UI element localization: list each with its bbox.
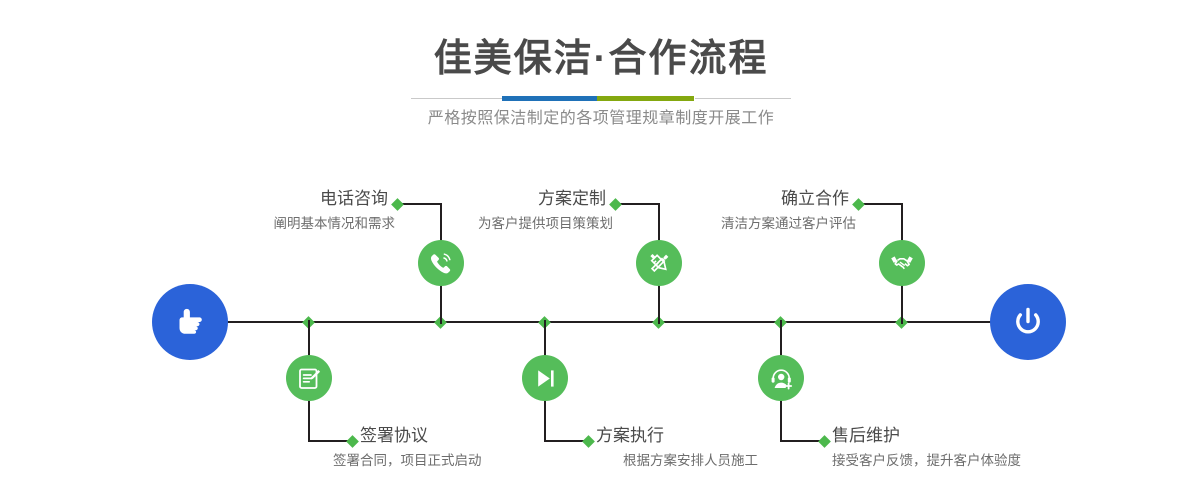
step-icon-2[interactable] (286, 355, 332, 401)
step-icon-4[interactable] (522, 355, 568, 401)
document-edit-icon (296, 365, 323, 392)
step-icon-3[interactable] (636, 240, 682, 286)
timeline-start-marker (152, 284, 228, 360)
play-next-icon (532, 365, 559, 392)
phone-call-icon (427, 249, 455, 277)
step-desc-5: 清洁方案通过客户评估 (594, 214, 856, 234)
pencil-ruler-icon (646, 250, 673, 277)
step-title-3: 方案定制 (351, 188, 606, 210)
step-title-6: 售后维护 (832, 425, 1132, 447)
customer-service-add-icon (768, 365, 795, 392)
step-icon-6[interactable] (758, 355, 804, 401)
flow-diagram-page: 佳美保洁·合作流程 严格按照保洁制定的各项管理规章制度开展工作 (0, 0, 1202, 502)
label-diamond-5 (852, 198, 865, 211)
step-desc-6: 接受客户反馈，提升客户体验度 (832, 451, 1172, 471)
step-icon-1[interactable] (418, 240, 464, 286)
step-title-5: 确立合作 (594, 188, 849, 210)
pointing-hand-icon (169, 301, 211, 343)
timeline-end-marker (990, 284, 1066, 360)
step-icon-5[interactable] (879, 240, 925, 286)
power-button-icon (1007, 301, 1049, 343)
step-title-1: 电话咨询 (133, 188, 388, 210)
process-timeline: 电话咨询 阐明基本情况和需求 签署协议 (0, 0, 1202, 502)
step-desc-2: 签署合同，项目正式启动 (333, 451, 653, 471)
step-desc-3: 为客户提供项目策策划 (351, 214, 613, 234)
handshake-icon (888, 249, 916, 277)
label-diamond-2 (346, 435, 359, 448)
connector-horizontal-5 (859, 203, 903, 205)
